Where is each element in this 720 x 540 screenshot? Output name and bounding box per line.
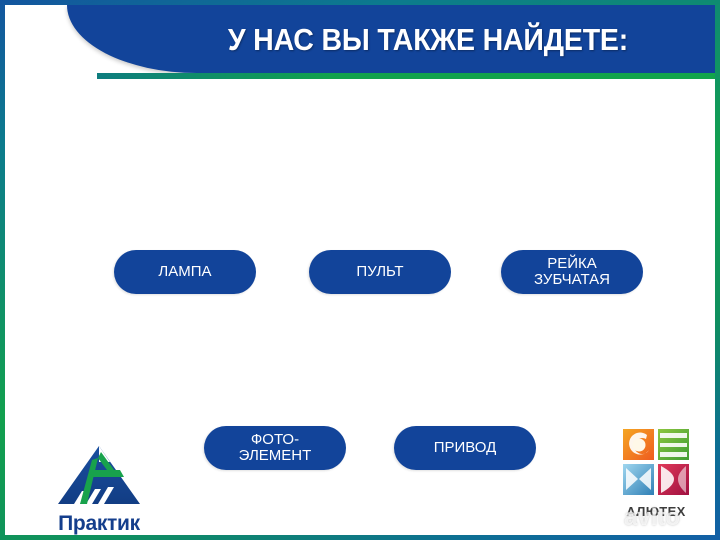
product-label-lampa[interactable]: ЛАМПА — [114, 250, 256, 294]
praktik-triangle-logo — [54, 444, 144, 511]
label-text-line2: ЭЛЕМЕНТ — [239, 448, 312, 464]
alutech-wordmark: АЛЮТЕХ — [626, 504, 685, 519]
alutech-squares-logo — [622, 428, 690, 501]
product-label-pult[interactable]: ПУЛЬТ — [309, 250, 451, 294]
product-label-reyka[interactable]: РЕЙКА ЗУБЧАТАЯ — [501, 250, 643, 294]
header-accent-stripe — [97, 73, 715, 79]
slide-root: У НАС ВЫ ТАКЖЕ НАЙДЕТЕ: — [0, 0, 720, 540]
label-text-line1: ФОТО- — [251, 432, 299, 448]
label-text: ЛАМПА — [158, 264, 211, 280]
label-text: ПУЛЬТ — [356, 264, 403, 280]
label-text-line1: РЕЙКА — [547, 256, 597, 272]
praktik-wordmark: Практик — [58, 512, 140, 536]
header-banner: У НАС ВЫ ТАКЖЕ НАЙДЕТЕ: — [5, 5, 715, 79]
praktik-logo[interactable]: Практик — [34, 444, 164, 532]
label-text: ПРИВОД — [434, 440, 497, 456]
alutech-logo[interactable]: АЛЮТЕХ — [612, 428, 700, 528]
product-label-privod[interactable]: ПРИВОД — [394, 426, 536, 470]
label-text-line2: ЗУБЧАТАЯ — [534, 272, 610, 288]
product-label-fotoelement[interactable]: ФОТО- ЭЛЕМЕНТ — [204, 426, 346, 470]
page-title: У НАС ВЫ ТАКЖЕ НАЙДЕТЕ: — [177, 15, 679, 65]
